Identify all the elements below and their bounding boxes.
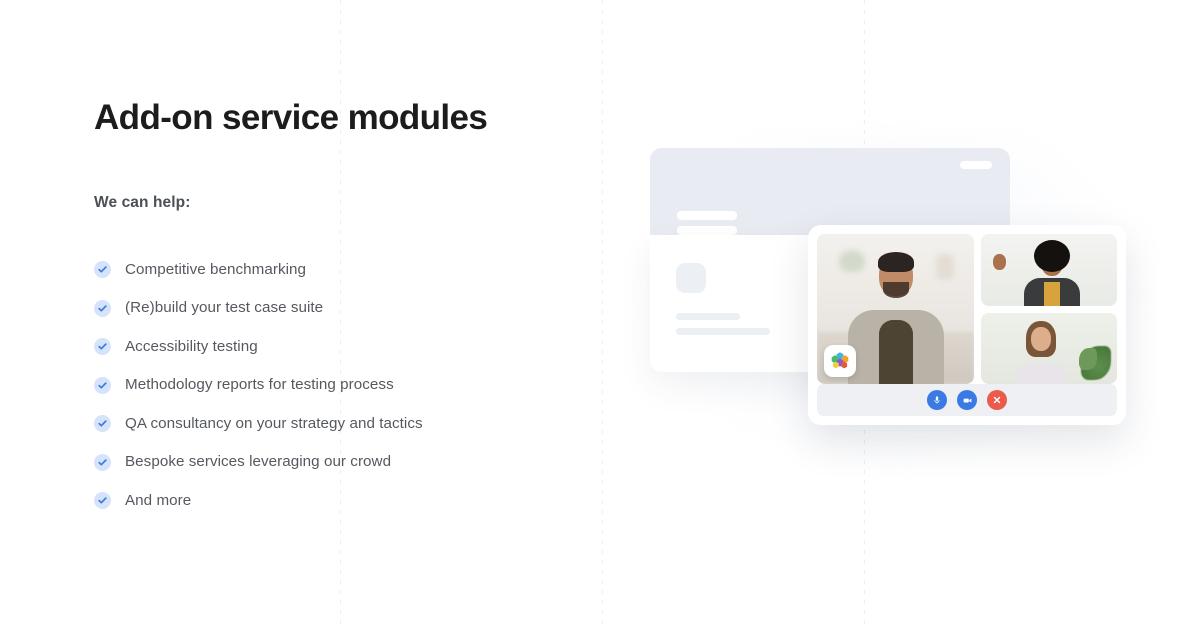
list-item: And more <box>94 481 554 520</box>
check-circle-icon <box>94 377 111 394</box>
page-title: Add-on service modules <box>94 98 554 138</box>
placeholder-bar <box>676 313 740 320</box>
page-root: Add-on service modules We can help: Comp… <box>0 0 1200 630</box>
person-hair <box>878 252 914 272</box>
list-item: Bespoke services leveraging our crowd <box>94 443 554 482</box>
capabilities-list: Competitive benchmarking (Re)build your … <box>94 250 554 520</box>
video-camera-icon <box>962 395 973 406</box>
check-circle-icon <box>94 415 111 432</box>
participant-tile-three[interactable] <box>981 313 1117 385</box>
person-face <box>1031 327 1051 351</box>
brand-logo-badge <box>824 345 856 377</box>
participant-tile-main[interactable] <box>817 234 974 384</box>
waving-hand <box>993 254 1006 270</box>
list-item-label: Methodology reports for testing process <box>125 377 394 392</box>
list-item: Methodology reports for testing process <box>94 366 554 405</box>
check-circle-icon <box>94 300 111 317</box>
person-scarf <box>1044 282 1060 306</box>
end-call-icon <box>992 395 1002 405</box>
decor-plant-leaf <box>1079 348 1097 370</box>
section-subtitle: We can help: <box>94 194 554 212</box>
thumbnail-placeholder <box>676 263 706 293</box>
decor-plant <box>839 250 865 272</box>
hexagon-cluster-icon <box>829 350 851 372</box>
decor-lamp <box>936 254 954 280</box>
video-call-window <box>808 225 1126 425</box>
content-column: Add-on service modules We can help: Comp… <box>94 98 554 520</box>
list-item-label: And more <box>125 493 191 508</box>
check-circle-icon <box>94 492 111 509</box>
check-circle-icon <box>94 454 111 471</box>
participant-tile-two[interactable] <box>981 234 1117 306</box>
person-hair <box>1034 240 1070 272</box>
video-call-illustration <box>620 120 1160 480</box>
end-call-button[interactable] <box>987 390 1007 410</box>
list-item-label: QA consultancy on your strategy and tact… <box>125 416 423 431</box>
check-circle-icon <box>94 338 111 355</box>
placeholder-bar <box>676 328 770 335</box>
participant-video-two <box>981 234 1117 306</box>
list-item: Competitive benchmarking <box>94 250 554 289</box>
person-shirt <box>879 320 913 384</box>
list-item-label: Bespoke services leveraging our crowd <box>125 454 391 469</box>
participant-grid <box>817 234 1117 384</box>
list-item: QA consultancy on your strategy and tact… <box>94 404 554 443</box>
placeholder-bar <box>677 226 737 235</box>
list-item: Accessibility testing <box>94 327 554 366</box>
layout-guide-line-2 <box>602 0 603 630</box>
participant-video-three <box>981 313 1117 385</box>
placeholder-bar <box>677 211 737 220</box>
person-torso <box>1016 364 1066 384</box>
microphone-icon <box>932 395 942 405</box>
call-control-bar <box>817 384 1117 416</box>
list-item: (Re)build your test case suite <box>94 289 554 328</box>
microphone-button[interactable] <box>927 390 947 410</box>
participant-side-column <box>981 234 1117 384</box>
camera-button[interactable] <box>957 390 977 410</box>
person-beard <box>883 282 909 298</box>
list-item-label: Accessibility testing <box>125 339 258 354</box>
list-item-label: (Re)build your test case suite <box>125 300 323 315</box>
check-circle-icon <box>94 261 111 278</box>
window-top-pill <box>960 161 992 169</box>
list-item-label: Competitive benchmarking <box>125 262 306 277</box>
